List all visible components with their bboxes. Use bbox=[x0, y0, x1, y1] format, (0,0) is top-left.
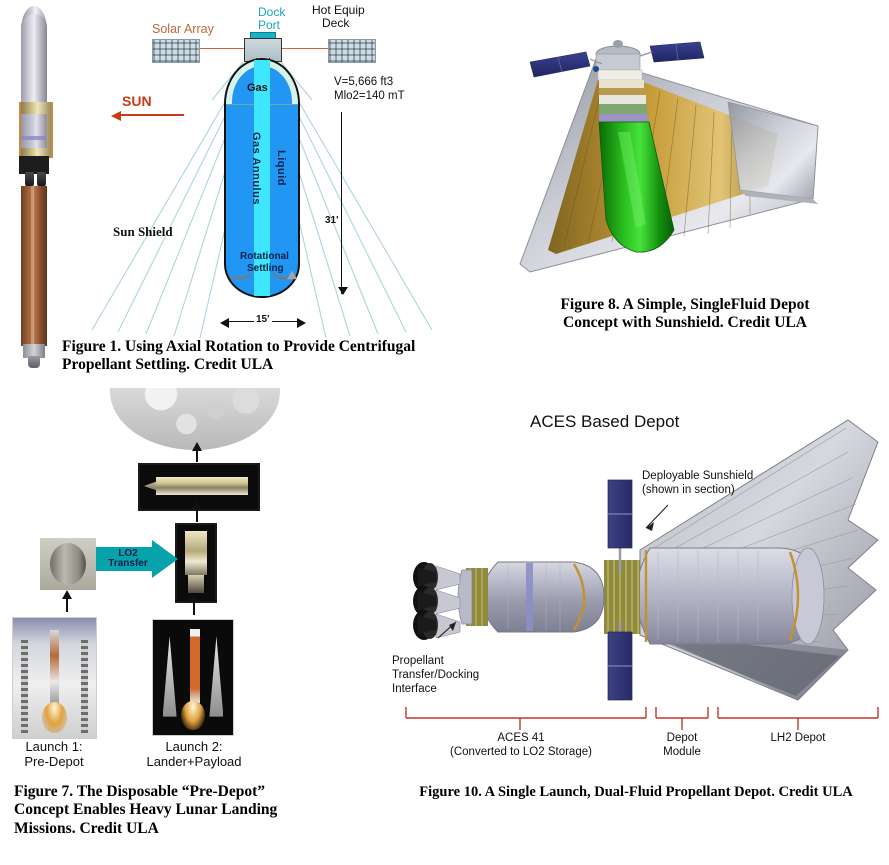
arrow-launch2-to-lander bbox=[193, 601, 195, 615]
gas-label: Gas bbox=[247, 82, 268, 94]
launch-2-photo bbox=[152, 619, 234, 736]
pre-depot-tank bbox=[50, 543, 86, 585]
figure-8-caption-line2: Concept with Sunshield. Credit ULA bbox=[510, 314, 860, 332]
figure-7-caption-line1: Figure 7. The Disposable “Pre-Depot” bbox=[14, 783, 364, 801]
solar-array-label: Solar Array bbox=[152, 22, 214, 36]
launch-1-photo bbox=[12, 617, 97, 739]
figure-8-caption-line1: Figure 8. A Simple, SingleFluid Depot bbox=[510, 296, 860, 314]
gas-annulus-label: Gas Annulus bbox=[250, 132, 262, 205]
atlas-rocket bbox=[50, 630, 59, 704]
launch-tower bbox=[81, 640, 88, 734]
booster-nozzle bbox=[28, 356, 40, 368]
liquid-label: Liquid bbox=[275, 150, 287, 186]
sunshield-annotation: Deployable Sunshield (shown in section) bbox=[642, 470, 753, 498]
height-dimension-label: 31' bbox=[325, 215, 339, 226]
figure-1-caption-line1: Figure 1. Using Axial Rotation to Provid… bbox=[62, 338, 487, 356]
upper-stage-band bbox=[21, 136, 47, 140]
booster-core bbox=[21, 186, 47, 346]
payload-fairing bbox=[21, 14, 47, 110]
bracket-label-lh2-depot: LH2 Depot bbox=[750, 732, 846, 746]
document-page: Solar Array Dock Port Hot Equip Deck SUN… bbox=[0, 0, 889, 865]
exhaust-plume bbox=[42, 702, 67, 733]
lander-stage-upper bbox=[185, 531, 207, 575]
sun-shield-label: Sun Shield bbox=[113, 225, 173, 240]
bracket-aces41-line2: (Converted to LO2 Storage) bbox=[438, 746, 604, 760]
dock-port-label-line2: Port bbox=[258, 19, 280, 32]
figure-8-caption: Figure 8. A Simple, SingleFluid Depot Co… bbox=[510, 296, 860, 333]
bracket-depot-line2: Module bbox=[650, 746, 714, 760]
figure-7-caption-line2: Concept Enables Heavy Lunar Landing bbox=[14, 801, 364, 819]
delta-core bbox=[190, 629, 200, 703]
figure-7-caption: Figure 7. The Disposable “Pre-Depot” Con… bbox=[14, 783, 364, 838]
arrow-to-moon bbox=[196, 450, 198, 462]
launch-1-label-line2: Pre-Depot bbox=[8, 755, 100, 770]
solid-booster bbox=[163, 636, 177, 717]
launch-2-label-line2: Lander+Payload bbox=[132, 755, 256, 770]
bracket-lh2-line1: LH2 Depot bbox=[750, 732, 846, 746]
launch-vehicle-illustration bbox=[12, 14, 56, 359]
bracket-aces41-line1: ACES 41 bbox=[438, 732, 604, 746]
propellant-interface-annotation: Propellant Transfer/Docking Interface bbox=[392, 655, 479, 696]
height-dimension-line bbox=[341, 112, 342, 294]
lander-payload-photo bbox=[175, 523, 217, 603]
lo2-transfer-label: LO2 Transfer bbox=[98, 547, 158, 571]
lander-body bbox=[156, 477, 248, 495]
figure-1-caption-line2: Propellant Settling. Credit ULA bbox=[62, 356, 487, 374]
sun-direction-arrow bbox=[120, 114, 184, 116]
propellant-annotation-line3: Interface bbox=[392, 683, 479, 697]
propellant-annotation-line2: Transfer/Docking bbox=[392, 669, 479, 683]
exhaust-plume bbox=[181, 701, 205, 731]
volume-annotation: V=5,666 ft3 bbox=[334, 76, 393, 89]
solid-booster bbox=[209, 636, 223, 717]
moon-image bbox=[110, 388, 280, 450]
rotational-label-line2: Settling bbox=[247, 263, 284, 274]
figure-10-caption: Figure 10. A Single Launch, Dual-Fluid P… bbox=[386, 784, 886, 801]
propellant-annotation-line1: Propellant bbox=[392, 655, 479, 669]
bracket-depot-line1: Depot bbox=[650, 732, 714, 746]
bracket-label-depot-module: Depot Module bbox=[650, 732, 714, 760]
launch-tower bbox=[21, 640, 28, 734]
width-dimension-label: 15' bbox=[254, 314, 272, 325]
figure-8-illustration bbox=[478, 14, 889, 284]
figure-7: LO2 Transfer Launch 1: Pre-Depot Launch … bbox=[0, 388, 375, 865]
figure-7-caption-line3: Missions. Credit ULA bbox=[14, 820, 364, 838]
sunshield-annotation-line1: Deployable Sunshield bbox=[642, 470, 753, 484]
booster-highlight bbox=[31, 186, 34, 346]
sunshield-annotation-line2: (shown in section) bbox=[642, 484, 753, 498]
bracket-label-aces41: ACES 41 (Converted to LO2 Storage) bbox=[438, 732, 604, 760]
figure-8: Figure 8. A Simple, SingleFluid Depot Co… bbox=[478, 14, 889, 334]
sun-label: SUN bbox=[122, 93, 152, 109]
lo2-transfer-line1: LO2 bbox=[118, 548, 137, 559]
lo2-transfer-arrow: LO2 Transfer bbox=[96, 540, 178, 578]
launch-2-label-line1: Launch 2: bbox=[132, 740, 256, 755]
arrow-launch1-to-predepot bbox=[66, 598, 68, 612]
figure-1-caption: Figure 1. Using Axial Rotation to Provid… bbox=[62, 338, 487, 375]
figure-1: Solar Array Dock Port Hot Equip Deck SUN… bbox=[0, 0, 505, 380]
solar-array-right bbox=[328, 39, 376, 63]
launch-2-label: Launch 2: Lander+Payload bbox=[132, 740, 256, 770]
hot-equip-deck-label-line2: Deck bbox=[322, 17, 349, 30]
solar-array-left bbox=[152, 39, 200, 63]
arrow-to-lander-stack bbox=[196, 508, 198, 522]
launch-1-label-line1: Launch 1: bbox=[8, 740, 100, 755]
lo2-transfer-line2: Transfer bbox=[108, 558, 147, 569]
launch-1-label: Launch 1: Pre-Depot bbox=[8, 740, 100, 770]
pre-depot-photo bbox=[40, 538, 96, 590]
lo2-mass-annotation: Mlo2=140 mT bbox=[334, 90, 405, 103]
upper-stage-tank bbox=[21, 114, 47, 148]
lander-stage-lower bbox=[188, 575, 204, 593]
rotational-label-line1: Rotational bbox=[240, 251, 289, 262]
figure-10: ACES Based Depot bbox=[378, 400, 889, 820]
